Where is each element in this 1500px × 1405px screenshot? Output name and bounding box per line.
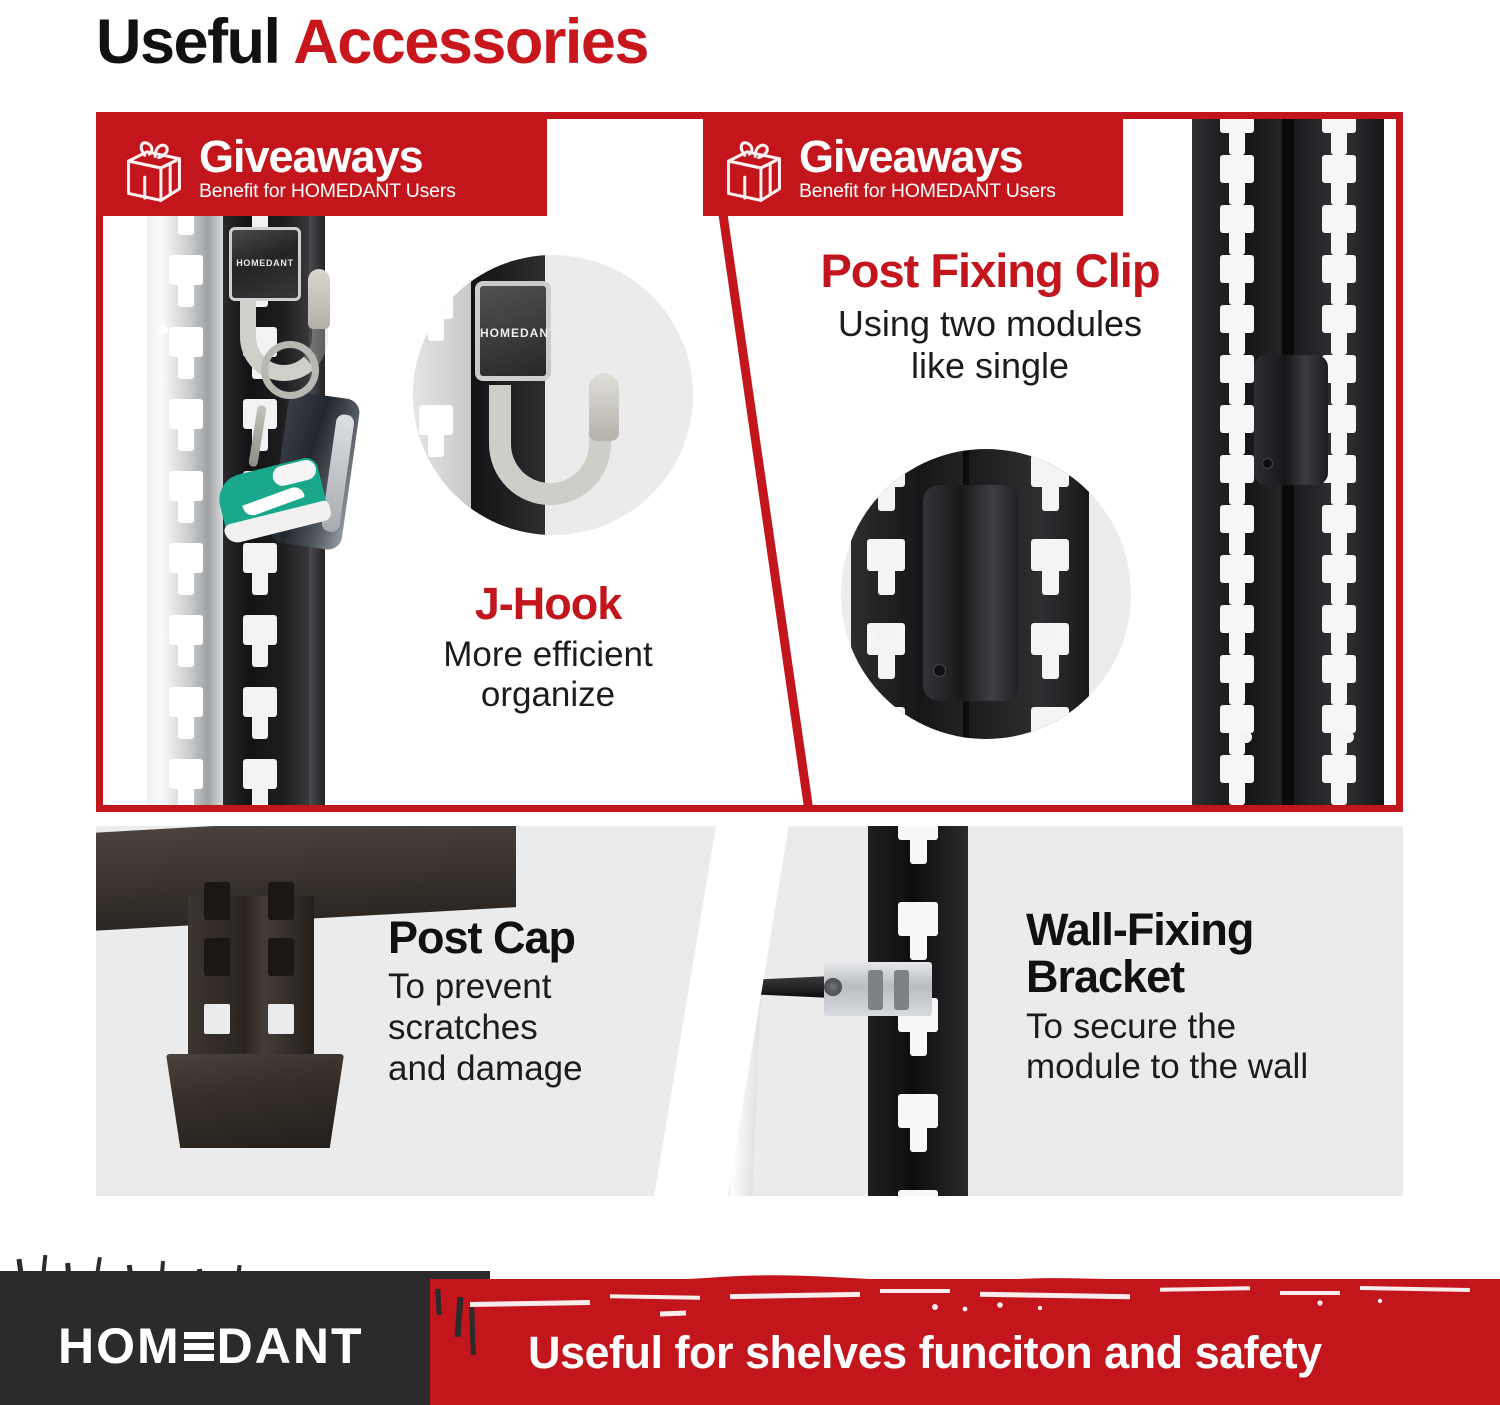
j-hook-module: HOMEDANT: [229, 227, 301, 301]
post-slot: [867, 539, 905, 595]
post-slot: [1322, 119, 1356, 155]
post-slot: [1220, 655, 1254, 705]
post-fixing-clip-desc-line1: Using two modules: [755, 303, 1225, 345]
post-cap-desc-line1: To prevent: [388, 967, 688, 1008]
post-pin-hole: [875, 625, 891, 641]
j-hook-photo: HOMEDANT: [103, 119, 433, 805]
wall-bracket-desc-line1: To secure the: [1026, 1007, 1386, 1048]
footer-logo: HOM DANT: [58, 1317, 364, 1375]
post-slot: [1220, 119, 1254, 155]
j-hook-desc-line2: organize: [403, 675, 693, 716]
post-fixing-clip-caption: Post Fixing Clip Using two modules like …: [755, 245, 1225, 387]
post-slot: [169, 327, 203, 379]
post-slot: [169, 471, 203, 523]
panel-post-fixing-clip: Post Fixing Clip Using two modules like …: [703, 119, 1396, 805]
j-hook-shank: [308, 269, 330, 329]
panel-wall-fixing-bracket: Wall-Fixing Bracket To secure the module…: [728, 826, 1403, 1196]
post-slot: [1220, 455, 1254, 505]
giveaways-title-left: Giveaways: [199, 134, 456, 179]
post-slot: [867, 707, 905, 739]
j-hook-title: J-Hook: [403, 579, 693, 629]
post-slot: [1322, 205, 1356, 255]
post-slot: [1031, 455, 1069, 511]
footer-logo-part2: DANT: [217, 1317, 364, 1375]
post-cap-caption: Post Cap To prevent scratches and damage: [388, 914, 688, 1090]
post-slot: [243, 615, 277, 667]
footer-logo-part1: HOM: [58, 1317, 181, 1375]
j-hook-caption: J-Hook More efficient organize: [403, 579, 693, 716]
j-hook-desc-line1: More efficient: [403, 635, 693, 676]
post-slot: [1220, 705, 1254, 755]
post-cap-desc-line3: and damage: [388, 1049, 688, 1090]
panel-post-cap: Post Cap To prevent scratches and damage: [96, 826, 716, 1196]
panel-j-hook: HOMEDANT HOMEDANT: [103, 119, 703, 805]
post-slot: [1322, 755, 1356, 805]
key-ring: [261, 341, 319, 399]
logo-e-glyph: [184, 1328, 214, 1364]
post-slot: [1322, 705, 1356, 755]
wall-anchor-bolt: [746, 976, 832, 998]
post-slot: [898, 1094, 938, 1152]
post-slot: [1322, 505, 1356, 555]
post-pin-hole: [159, 325, 168, 334]
post-slot: [169, 615, 203, 667]
j-hook-module-closeup: HOMEDANT: [475, 281, 551, 381]
bottom-panels-row: Post Cap To prevent scratches and damage…: [96, 826, 1403, 1196]
j-hook-brand-label-closeup: HOMEDANT: [480, 326, 546, 340]
post-fixing-clip-title: Post Fixing Clip: [755, 245, 1225, 297]
post-slot: [1220, 205, 1254, 255]
post-slot: [169, 543, 203, 595]
post-slot: [1322, 155, 1356, 205]
post-slot: [1220, 355, 1254, 405]
post-slot: [1322, 255, 1356, 305]
post-slot: [1031, 539, 1069, 595]
post-slot: [243, 543, 277, 595]
footer-tagline: Useful for shelves funciton and safety: [528, 1327, 1322, 1379]
post-slot: [898, 826, 938, 864]
post-cap-desc-line2: scratches: [388, 1008, 688, 1049]
post-pin-hole: [1240, 731, 1252, 743]
post-slot: [169, 399, 203, 451]
post-fixing-clip-part: [923, 485, 1019, 701]
page-title: Useful Accessories: [96, 6, 648, 78]
post-slot: [169, 255, 203, 307]
giveaways-badge-left: Giveaways Benefit for HOMEDANT Users: [103, 119, 547, 216]
post-pin-hole: [1039, 625, 1055, 641]
post-slot: [243, 759, 277, 805]
post-slot: [1220, 755, 1254, 805]
post-slot: [169, 687, 203, 739]
post-slot: [1220, 305, 1254, 355]
giveaways-subtitle-right: Benefit for HOMEDANT Users: [799, 182, 1056, 202]
page-title-red: Accessories: [293, 7, 648, 77]
post-slot: [243, 687, 277, 739]
post-slot: [1220, 505, 1254, 555]
post-pin-hole: [1342, 731, 1354, 743]
bracket-screw: [824, 978, 842, 996]
post-slot: [898, 902, 938, 960]
wall-bracket-desc-line2: module to the wall: [1026, 1047, 1386, 1088]
footer-bar: HOM DANT Useful for shelves funciton and…: [0, 1245, 1500, 1405]
top-panels-frame: HOMEDANT HOMEDANT: [96, 112, 1403, 812]
giveaways-title-right: Giveaways: [799, 134, 1056, 179]
post-cap-title: Post Cap: [388, 914, 688, 961]
wall-fixing-bracket-caption: Wall-Fixing Bracket To secure the module…: [1026, 906, 1386, 1088]
post-fixing-clip-installed: [1254, 355, 1328, 485]
wall-bracket-title-line1: Wall-Fixing: [1026, 906, 1386, 953]
gift-box-icon: [117, 131, 191, 205]
giveaways-badge-right: Giveaways Benefit for HOMEDANT Users: [703, 119, 1123, 216]
wall-bracket-title-line2: Bracket: [1026, 953, 1386, 1000]
post-slot: [1322, 605, 1356, 655]
j-hook-closeup-inset: HOMEDANT: [413, 255, 693, 535]
post-slot: [1220, 555, 1254, 605]
gift-box-icon: [717, 131, 791, 205]
post-fixing-clip-closeup-inset: [841, 449, 1131, 739]
post-slot: [1322, 555, 1356, 605]
post-slot: [1220, 155, 1254, 205]
post-slot: [169, 759, 203, 805]
giveaways-subtitle-left: Benefit for HOMEDANT Users: [199, 182, 456, 202]
page-title-black: Useful: [96, 7, 293, 77]
j-hook-brand-label: HOMEDANT: [232, 258, 298, 268]
post-slot: [1322, 305, 1356, 355]
post-slot: [1220, 255, 1254, 305]
post-fixing-clip-desc-line2: like single: [755, 345, 1225, 387]
post-slot: [898, 1190, 938, 1196]
post-cap-part: [166, 1054, 344, 1148]
wall-surface: [729, 826, 768, 1196]
double-post-photo: [1192, 119, 1384, 805]
post-slot: [1220, 605, 1254, 655]
post-slot: [1031, 707, 1069, 739]
post-slot: [1220, 405, 1254, 455]
post-slot: [867, 455, 905, 511]
post-slot: [1322, 655, 1356, 705]
